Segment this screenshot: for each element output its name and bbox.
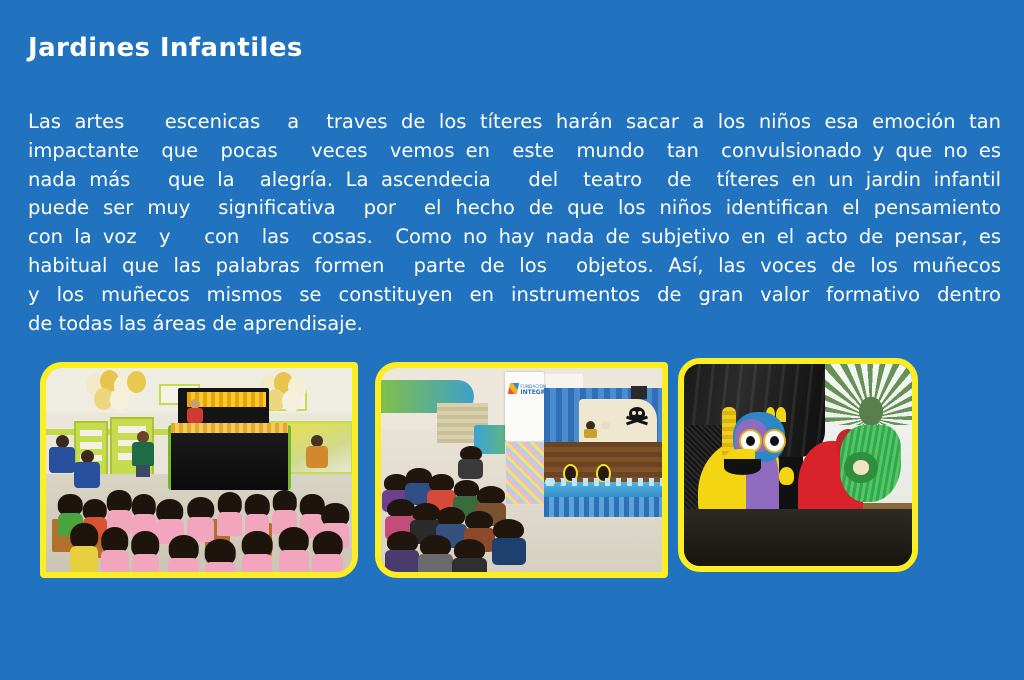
- child-seated: [242, 531, 273, 572]
- paragraph-line: con la voz y con las cosas. Como no hay …: [28, 223, 1001, 252]
- balloon-cluster: [86, 370, 146, 412]
- body-paragraph: Las artes escenicas a traves de los títe…: [28, 108, 1001, 338]
- photo-two-puppets-closeup: [678, 358, 918, 572]
- puppet-on-stage: [187, 399, 203, 423]
- child-seated: [132, 531, 160, 572]
- pirate-puppet: [599, 421, 612, 437]
- dark-foreground-ledge: [684, 509, 912, 566]
- slide-canvas: Jardines Infantiles Las artes escenicas …: [0, 0, 1024, 680]
- teacher-standing: [306, 435, 328, 477]
- photo-2-scene: FUNDACIÓN INTEGRA: [381, 368, 662, 572]
- balloon-icon: [110, 389, 129, 411]
- photo-3-scene: [684, 364, 912, 566]
- child-seated: [101, 527, 129, 572]
- paragraph-line: y los muñecos mismos se constituyen en i…: [28, 281, 1001, 310]
- stage-gold-fringe-shelf: [171, 423, 287, 433]
- child-seated: [70, 523, 98, 572]
- paragraph-line: impactante que pocas veces vemos en este…: [28, 137, 1001, 166]
- balloon-icon: [282, 390, 301, 412]
- puppet-hand: [779, 467, 794, 485]
- child-seated: [205, 539, 236, 572]
- skull-crossbones-icon: [626, 407, 648, 427]
- child-seated: [420, 535, 451, 572]
- paragraph-line: habitual que las palabras formen parte d…: [28, 252, 1001, 281]
- door-pane: [80, 430, 102, 436]
- fundacion-integra-banner: FUNDACIÓN INTEGRA: [505, 372, 544, 441]
- page-title: Jardines Infantiles: [28, 33, 303, 63]
- child-seated: [454, 539, 485, 572]
- pirate-puppet: [584, 421, 597, 437]
- stage-black-curtain: [171, 433, 287, 490]
- stage-skirt: [544, 497, 662, 517]
- paragraph-line: puede ser muy significativa por el hecho…: [28, 194, 1001, 223]
- palm-foliage: [825, 364, 912, 425]
- child-seated: [387, 531, 418, 572]
- adult-seated: [460, 446, 482, 479]
- photo-pirate-ship-show: FUNDACIÓN INTEGRA: [375, 362, 668, 578]
- photo-1-scene: [46, 368, 352, 572]
- decorated-panel: [505, 441, 549, 504]
- adult-left: [74, 450, 100, 486]
- child-seated: [279, 527, 310, 572]
- paragraph-line: Las artes escenicas a traves de los títe…: [28, 108, 1001, 137]
- photo-puppet-theatre-classroom: [40, 362, 358, 578]
- teacher-standing: [132, 431, 154, 477]
- paragraph-line: de todas las áreas de aprendisaje.: [28, 310, 1001, 339]
- child-seated: [493, 519, 524, 564]
- pirate-flag-top: [631, 386, 646, 399]
- integra-logo-icon: [508, 383, 520, 394]
- balloon-icon: [127, 371, 146, 393]
- child-seated: [312, 531, 343, 572]
- paragraph-line: nada más que la alegría. La ascendecia d…: [28, 166, 1001, 195]
- child-seated: [217, 492, 241, 535]
- child-seated: [168, 535, 199, 572]
- door-pane: [80, 442, 102, 448]
- puppet-snout: [853, 460, 870, 475]
- pirate-ship-set: [544, 388, 662, 514]
- balloon-cluster: [260, 372, 320, 414]
- adult-left: [49, 435, 75, 475]
- puppet-mouth: [724, 459, 761, 474]
